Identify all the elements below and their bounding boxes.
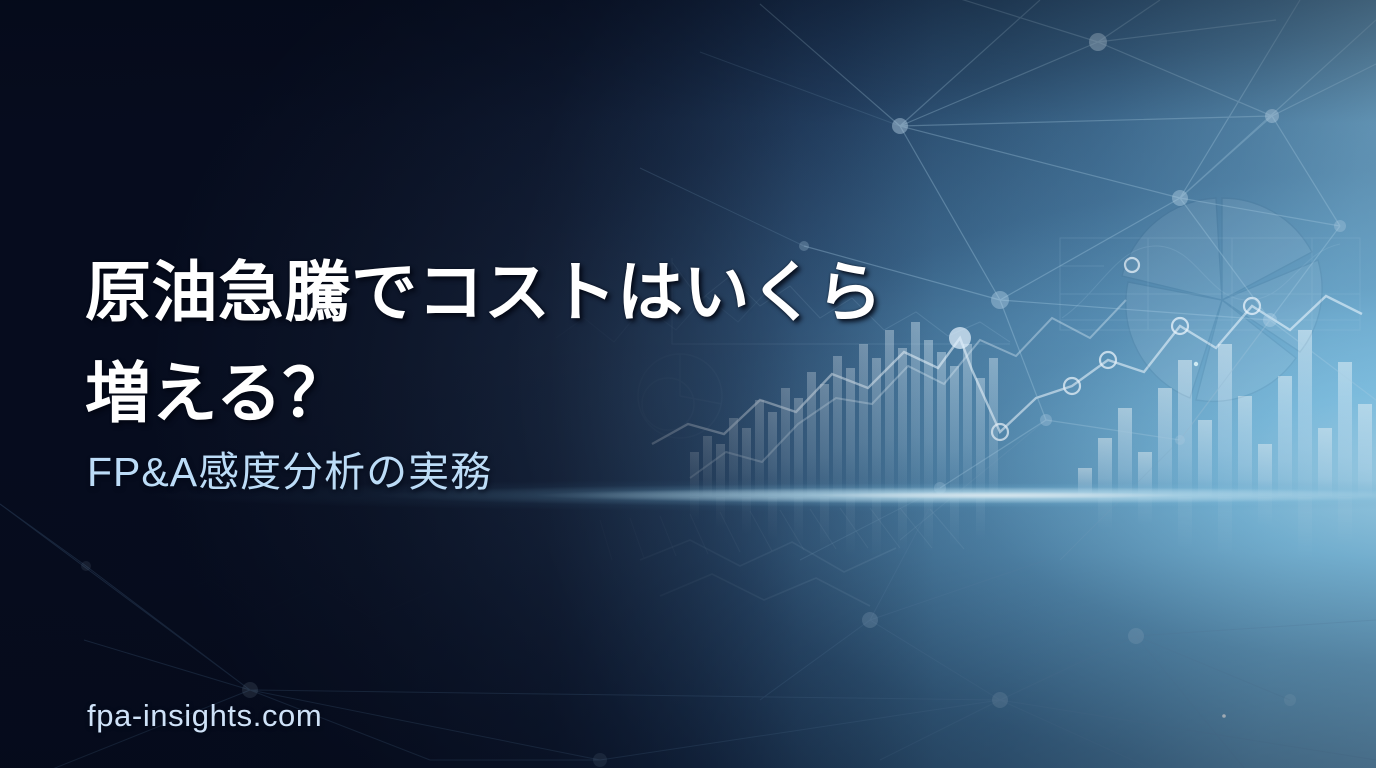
slide-content: 原油急騰でコストはいくら 増える？ FP&A感度分析の実務 fpa-insigh… xyxy=(85,0,1145,768)
presentation-slide: 原油急騰でコストはいくら 増える？ FP&A感度分析の実務 fpa-insigh… xyxy=(0,0,1376,768)
footer-website-url: fpa-insights.com xyxy=(87,698,322,734)
slide-subtitle: FP&A感度分析の実務 xyxy=(87,438,492,498)
slide-title: 原油急騰でコストはいくら 増える？ xyxy=(85,242,1085,443)
